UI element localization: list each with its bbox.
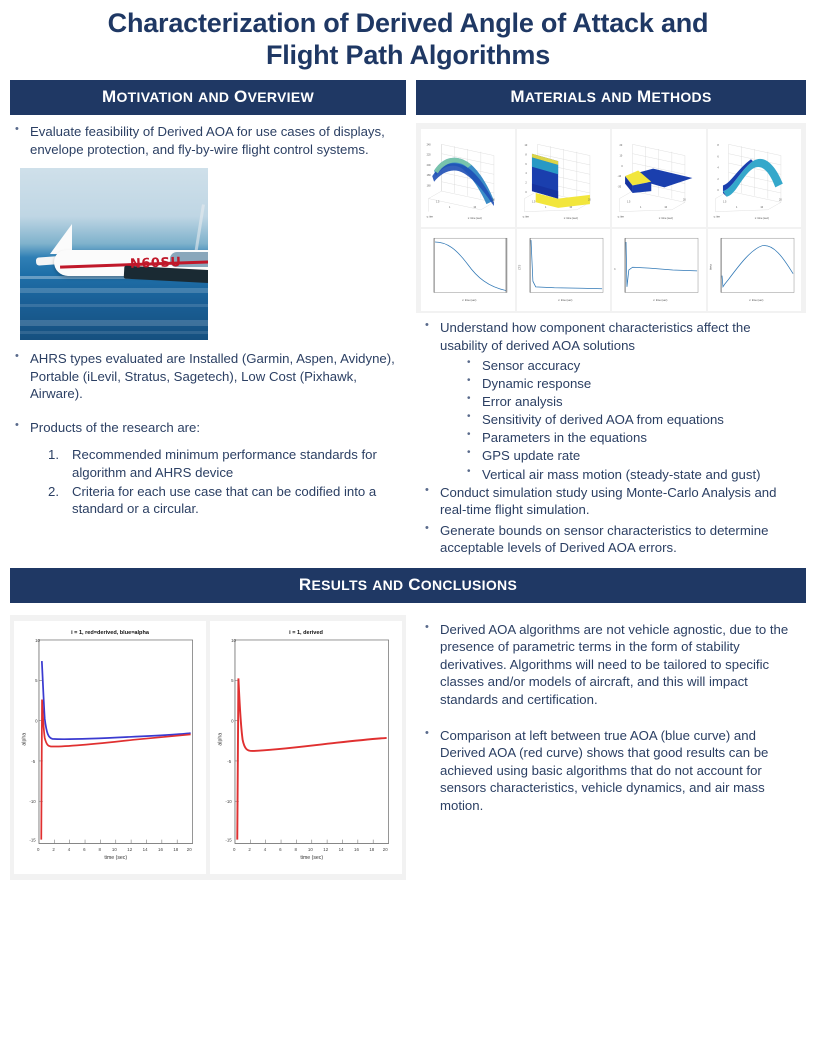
surface-plot-3-svg: 20100 -10-20 1.51 1020 y: iter x: time (… xyxy=(612,129,706,227)
results-plot-1-svg: i = 1, red=derived, blue=alpha time (sec… xyxy=(14,621,206,874)
svg-text:6: 6 xyxy=(279,847,282,852)
surface-plot-1-svg: 240220 200180160 1.51 1020 y: iter x: ti… xyxy=(421,129,515,227)
materials-rest-2: ETHODS xyxy=(651,89,711,105)
results-fig-1-xlabel: time (sec) xyxy=(104,855,127,861)
svg-text:4: 4 xyxy=(717,167,719,170)
svg-text:12: 12 xyxy=(127,847,132,852)
line-3-ylabel: u xyxy=(614,268,617,270)
spacer xyxy=(10,406,406,419)
svg-text:10: 10 xyxy=(619,155,622,158)
svg-text:-15: -15 xyxy=(29,837,36,842)
svg-text:16: 16 xyxy=(158,847,163,852)
svg-text:0: 0 xyxy=(621,165,623,168)
svg-text:2: 2 xyxy=(525,182,527,185)
chart-mm-surface-2: 1086 420 1.51 1020 y: iter x: time (sec) xyxy=(517,129,611,227)
results-bullet-list: Derived AOA algorithms are not vehicle a… xyxy=(420,621,792,814)
line-plot-4-svg: theta x: time (sec) xyxy=(708,229,802,311)
page-title-line1: Characterization of Derived Angle of Att… xyxy=(40,8,776,40)
results-bullet-1: Comparison at left between true AOA (blu… xyxy=(420,727,792,815)
svg-text:0: 0 xyxy=(233,847,236,852)
svg-text:20: 20 xyxy=(187,847,192,852)
results-cap-1: R xyxy=(299,575,312,594)
svg-text:20: 20 xyxy=(779,199,782,202)
svg-text:10: 10 xyxy=(112,847,117,852)
materials-bullet-list: Understand how component characteristics… xyxy=(420,319,800,354)
svg-text:-5: -5 xyxy=(31,759,35,764)
svg-text:1: 1 xyxy=(449,206,451,209)
materials-cap-2: M xyxy=(637,87,651,106)
surface-plot-4-svg: 864 20 1.51 1020 y: iter x: time (sec) xyxy=(708,129,802,227)
svg-text:-10: -10 xyxy=(225,799,232,804)
svg-text:10: 10 xyxy=(569,206,572,209)
svg-text:1: 1 xyxy=(640,206,642,209)
svg-text:10: 10 xyxy=(664,206,667,209)
surface-2-ylabel: y: iter xyxy=(522,214,529,218)
svg-text:16: 16 xyxy=(354,847,359,852)
svg-text:0: 0 xyxy=(37,847,40,852)
page-title: Characterization of Derived Angle of Att… xyxy=(0,0,816,77)
svg-text:10: 10 xyxy=(473,206,476,209)
svg-text:10: 10 xyxy=(35,638,40,643)
section-header-results: RESULTS AND CONCLUSIONS xyxy=(10,568,806,603)
materials-bullet-list-tail: Conduct simulation study using Monte-Car… xyxy=(420,484,800,557)
chart-mm-surface-4: 864 20 1.51 1020 y: iter x: time (sec) xyxy=(708,129,802,227)
motivation-column: Evaluate feasibility of Derived AOA for … xyxy=(10,123,406,560)
line-plot-2-svg: CTS x: time (sec) xyxy=(517,229,611,311)
motivation-numbered-1: Criteria for each use case that can be c… xyxy=(48,483,406,518)
svg-text:10: 10 xyxy=(308,847,313,852)
svg-text:14: 14 xyxy=(339,847,344,852)
svg-text:-10: -10 xyxy=(618,175,622,178)
svg-text:6: 6 xyxy=(717,156,719,159)
spacer xyxy=(10,439,406,446)
svg-text:10: 10 xyxy=(524,144,527,147)
materials-and: AND xyxy=(601,89,632,105)
svg-text:2: 2 xyxy=(52,847,55,852)
svg-text:6: 6 xyxy=(83,847,86,852)
svg-text:6: 6 xyxy=(525,163,527,166)
svg-text:5: 5 xyxy=(35,678,38,683)
chart-mm-surface-3: 20100 -10-20 1.51 1020 y: iter x: time (… xyxy=(612,129,706,227)
chart-results-fig-2: i = 1, derived time (sec) alpha 1050 -5-… xyxy=(210,621,402,874)
chart-mm-line-2: CTS x: time (sec) xyxy=(517,229,611,311)
materials-figure-panel: 240220 200180160 1.51 1020 y: iter x: ti… xyxy=(416,123,806,313)
results-rest-2: ONCLUSIONS xyxy=(421,577,517,593)
results-header-row: RESULTS AND CONCLUSIONS xyxy=(0,568,816,603)
materials-sub-bullet-list: Sensor accuracy Dynamic response Error a… xyxy=(464,357,800,483)
results-fig-1-title: i = 1, red=derived, blue=alpha xyxy=(71,630,150,636)
results-plot-2-svg: i = 1, derived time (sec) alpha 1050 -5-… xyxy=(210,621,402,874)
svg-text:-15: -15 xyxy=(225,837,232,842)
svg-text:14: 14 xyxy=(143,847,148,852)
svg-text:5: 5 xyxy=(231,678,234,683)
motivation-bullet-list-mid: AHRS types evaluated are Installed (Garm… xyxy=(10,350,406,403)
chart-results-fig-1: i = 1, red=derived, blue=alpha time (sec… xyxy=(14,621,206,874)
surface-4-ylabel: y: iter xyxy=(713,214,720,218)
svg-text:4: 4 xyxy=(525,172,527,175)
svg-text:1.5: 1.5 xyxy=(722,200,726,203)
motivation-numbered-0: Recommended minimum performance standard… xyxy=(48,446,406,481)
section-header-motivation: MOTIVATION AND OVERVIEW xyxy=(10,80,406,115)
svg-text:18: 18 xyxy=(369,847,374,852)
motivation-bullet-list-products: Products of the research are: xyxy=(10,419,406,437)
svg-text:200: 200 xyxy=(427,164,432,167)
svg-text:4: 4 xyxy=(68,847,71,852)
line-2-xlabel: x: time (sec) xyxy=(558,298,572,302)
chart-mm-line-3: u x: time (sec) xyxy=(612,229,706,311)
svg-text:180: 180 xyxy=(427,174,432,177)
surface-2-xlabel: x: time (sec) xyxy=(563,216,577,220)
motivation-numbered-list: Recommended minimum performance standard… xyxy=(48,446,406,517)
surface-1-ylabel: y: iter xyxy=(427,214,434,218)
motivation-cap-2: O xyxy=(234,87,248,106)
results-fig-2-ylabel: alpha xyxy=(218,733,224,746)
svg-text:-20: -20 xyxy=(618,186,622,189)
svg-text:10: 10 xyxy=(760,206,763,209)
sea-streak xyxy=(20,304,208,307)
results-bullet-0: Derived AOA algorithms are not vehicle a… xyxy=(420,621,792,709)
results-fig-2-title: i = 1, derived xyxy=(289,630,323,636)
motivation-rest-1: OTIVATION xyxy=(116,89,193,105)
surface-3-xlabel: x: time (sec) xyxy=(659,216,673,220)
materials-text-block: Understand how component characteristics… xyxy=(416,313,806,557)
results-body: i = 1, red=derived, blue=alpha time (sec… xyxy=(0,603,816,880)
materials-cap-1: M xyxy=(510,87,524,106)
svg-text:0: 0 xyxy=(525,191,527,194)
svg-text:8: 8 xyxy=(98,847,101,852)
materials-figure-grid: 240220 200180160 1.51 1020 y: iter x: ti… xyxy=(421,129,801,307)
results-rest-1: ESULTS xyxy=(311,577,367,593)
svg-text:0: 0 xyxy=(35,718,38,723)
svg-text:12: 12 xyxy=(323,847,328,852)
surface-plot-2-svg: 1086 420 1.51 1020 y: iter x: time (sec) xyxy=(517,129,611,227)
svg-text:8: 8 xyxy=(525,154,527,157)
svg-text:-5: -5 xyxy=(227,759,231,764)
surface-4-xlabel: x: time (sec) xyxy=(754,216,768,220)
materials-sub-bullet-5: GPS update rate xyxy=(464,447,800,465)
line-plot-1-svg: x: time (sec) xyxy=(421,229,515,311)
materials-bullet-2: Generate bounds on sensor characteristic… xyxy=(420,522,800,557)
results-fig-1-ylabel: alpha xyxy=(22,733,28,746)
svg-text:0: 0 xyxy=(231,718,234,723)
results-text-column: Derived AOA algorithms are not vehicle a… xyxy=(416,603,806,880)
svg-text:1: 1 xyxy=(736,206,738,209)
svg-text:8: 8 xyxy=(717,144,719,147)
motivation-bullet-0: Evaluate feasibility of Derived AOA for … xyxy=(10,123,406,158)
svg-text:1.5: 1.5 xyxy=(531,200,535,203)
line-4-ylabel: theta xyxy=(708,264,712,270)
svg-text:10: 10 xyxy=(231,638,236,643)
materials-sub-bullet-0: Sensor accuracy xyxy=(464,357,800,375)
sea-streak xyxy=(20,320,208,326)
materials-sub-bullet-6: Vertical air mass motion (steady-state a… xyxy=(464,466,800,484)
chart-mm-line-4: theta x: time (sec) xyxy=(708,229,802,311)
results-figure-panel: i = 1, red=derived, blue=alpha time (sec… xyxy=(10,615,406,880)
materials-rest-1: ATERIALS xyxy=(525,89,596,105)
materials-sub-bullet-2: Error analysis xyxy=(464,393,800,411)
line-2-ylabel: CTS xyxy=(517,265,521,270)
line-plot-3-svg: u x: time (sec) xyxy=(612,229,706,311)
svg-text:220: 220 xyxy=(427,154,432,157)
line-3-xlabel: x: time (sec) xyxy=(653,298,667,302)
page-title-line2: Flight Path Algorithms xyxy=(40,40,776,72)
materials-sub-bullet-4: Parameters in the equations xyxy=(464,429,800,447)
line-4-xlabel: x: time (sec) xyxy=(749,298,763,302)
materials-bullet-0: Understand how component characteristics… xyxy=(420,319,800,354)
svg-text:2: 2 xyxy=(717,178,719,181)
chart-mm-line-1: x: time (sec) xyxy=(421,229,515,311)
two-column-body: Evaluate feasibility of Derived AOA for … xyxy=(0,123,816,560)
svg-text:20: 20 xyxy=(492,199,495,202)
svg-text:20: 20 xyxy=(588,199,591,202)
motivation-bullet-list-top: Evaluate feasibility of Derived AOA for … xyxy=(10,123,406,158)
svg-text:18: 18 xyxy=(173,847,178,852)
svg-text:160: 160 xyxy=(427,185,432,188)
sea-streak xyxy=(20,331,208,334)
svg-text:20: 20 xyxy=(383,847,388,852)
materials-column: 240220 200180160 1.51 1020 y: iter x: ti… xyxy=(416,123,806,560)
results-cap-2: C xyxy=(408,575,421,594)
svg-text:2: 2 xyxy=(248,847,251,852)
results-and: AND xyxy=(372,577,403,593)
motivation-rest-2: VERVIEW xyxy=(248,89,314,105)
sea-streak xyxy=(20,288,208,293)
surface-1-xlabel: x: time (sec) xyxy=(468,216,482,220)
aircraft-photo: N60SU xyxy=(20,168,208,340)
materials-bullet-1: Conduct simulation study using Monte-Car… xyxy=(420,484,800,519)
materials-sub-bullet-3: Sensitivity of derived AOA from equation… xyxy=(464,411,800,429)
svg-text:20: 20 xyxy=(683,199,686,202)
motivation-bullet-2: Products of the research are: xyxy=(10,419,406,437)
motivation-and: AND xyxy=(198,89,229,105)
chart-mm-surface-1: 240220 200180160 1.51 1020 y: iter x: ti… xyxy=(421,129,515,227)
svg-text:20: 20 xyxy=(619,144,622,147)
svg-text:0: 0 xyxy=(717,189,719,192)
svg-text:-10: -10 xyxy=(29,799,36,804)
svg-text:1.5: 1.5 xyxy=(627,200,631,203)
line-1-xlabel: x: time (sec) xyxy=(462,298,476,302)
svg-text:8: 8 xyxy=(294,847,297,852)
surface-3-ylabel: y: iter xyxy=(618,214,625,218)
svg-text:4: 4 xyxy=(264,847,267,852)
results-fig-2-xlabel: time (sec) xyxy=(300,855,323,861)
motivation-bullet-1: AHRS types evaluated are Installed (Garm… xyxy=(10,350,406,403)
svg-text:240: 240 xyxy=(427,143,432,146)
materials-sub-bullet-1: Dynamic response xyxy=(464,375,800,393)
tail-number-text: N60SU xyxy=(130,254,182,273)
svg-text:1: 1 xyxy=(545,206,547,209)
motivation-cap-1: M xyxy=(102,87,116,106)
section-header-materials: MATERIALS AND METHODS xyxy=(416,80,806,115)
section-header-row: MOTIVATION AND OVERVIEW MATERIALS AND ME… xyxy=(0,80,816,115)
